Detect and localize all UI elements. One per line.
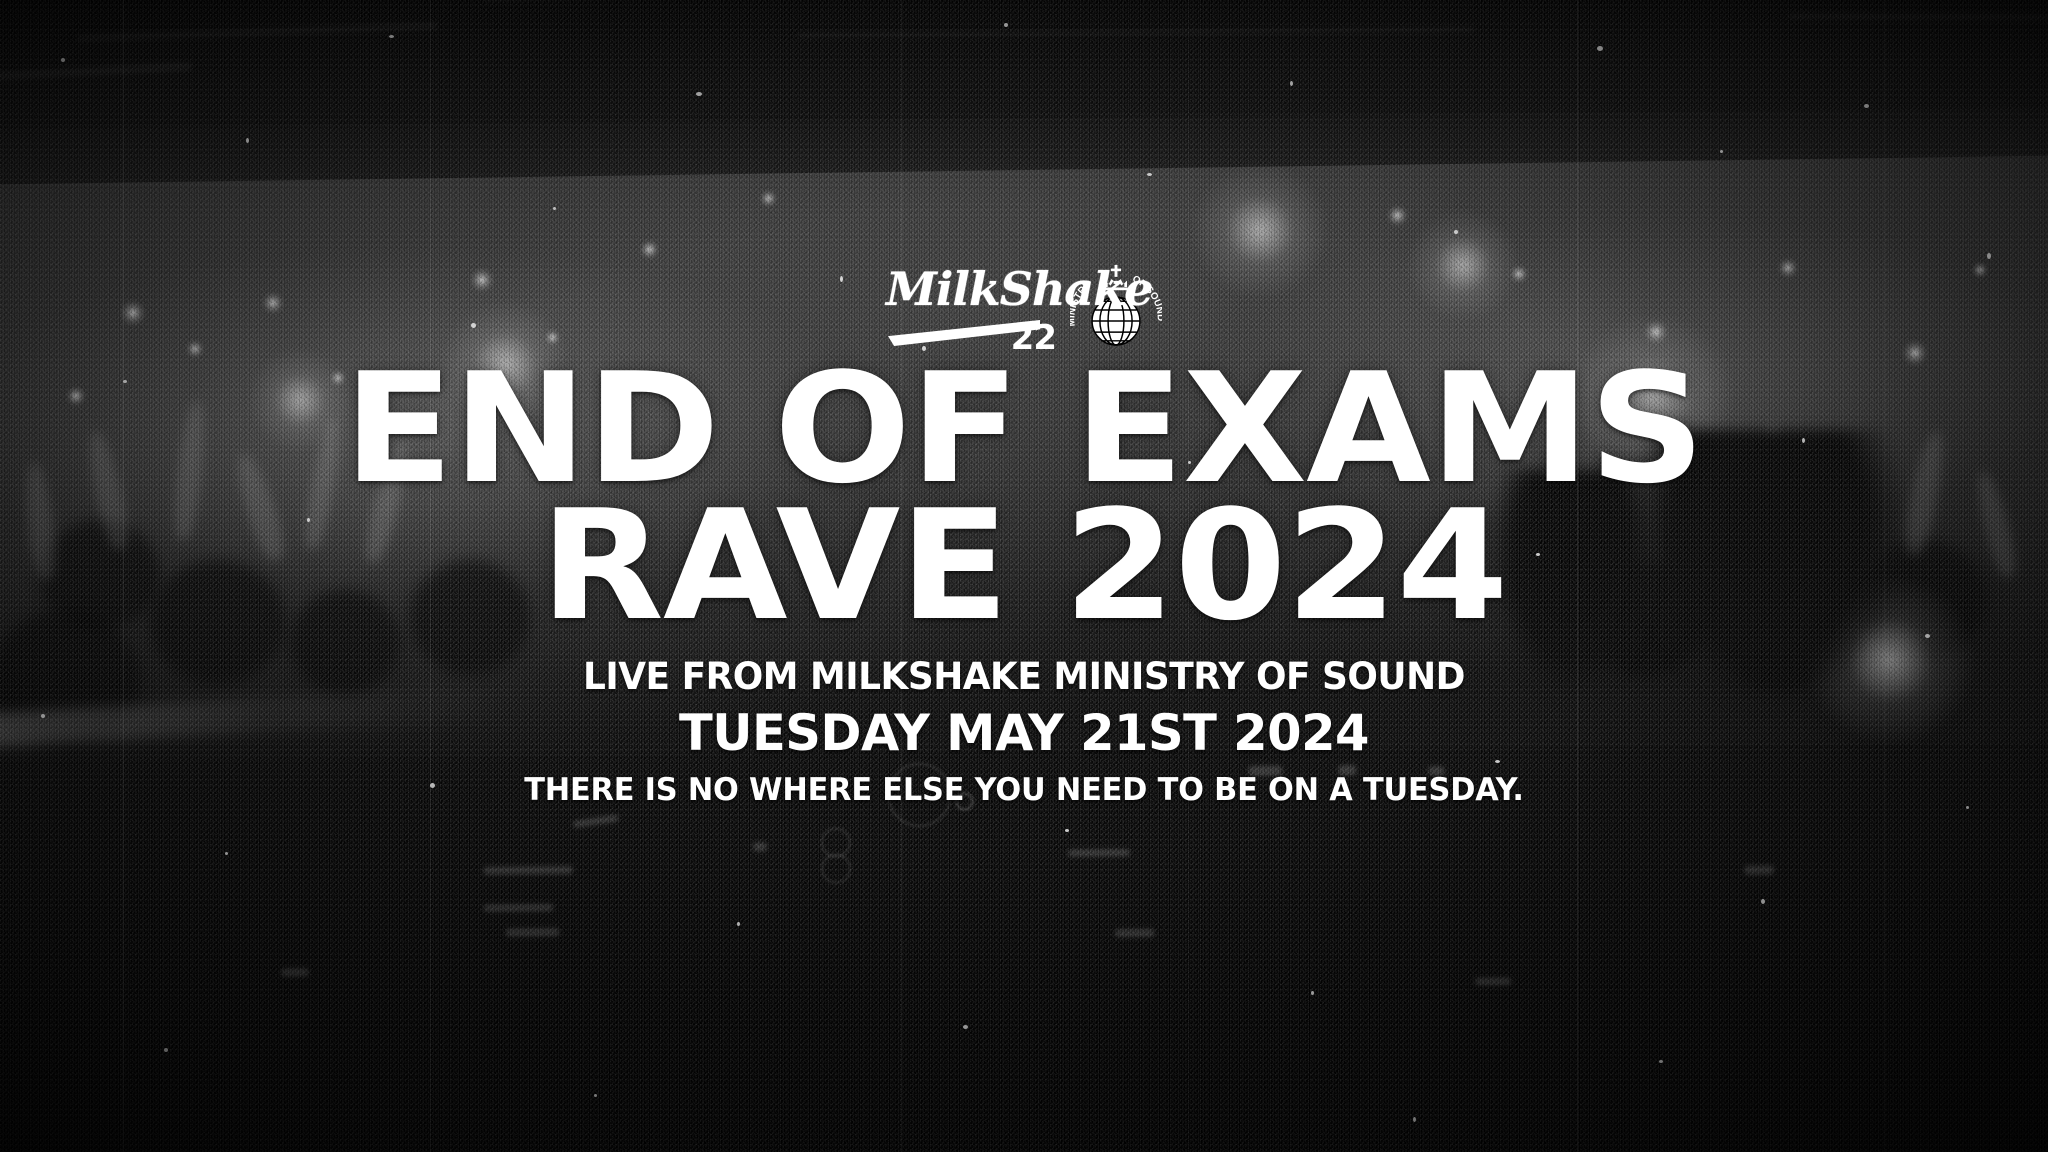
headline: END OF EXAMS RAVE 2024 [382,364,1666,631]
milkshake-wordmark: MilkShake [886,262,1152,316]
tagline: THERE IS NO WHERE ELSE YOU NEED TO BE ON… [524,772,1524,808]
event-poster: MilkShake 22 [0,0,2048,1152]
headline-line-1: END OF EXAMS [344,364,1705,495]
poster-content: MilkShake 22 [0,0,2048,1152]
event-details: LIVE FROM MILKSHAKE MINISTRY OF SOUND TU… [514,655,1534,808]
venue-line: LIVE FROM MILKSHAKE MINISTRY OF SOUND [529,655,1518,698]
headline-line-2: RAVE 2024 [344,501,1705,632]
date-line: TUESDAY MAY 21ST 2024 [519,704,1529,762]
